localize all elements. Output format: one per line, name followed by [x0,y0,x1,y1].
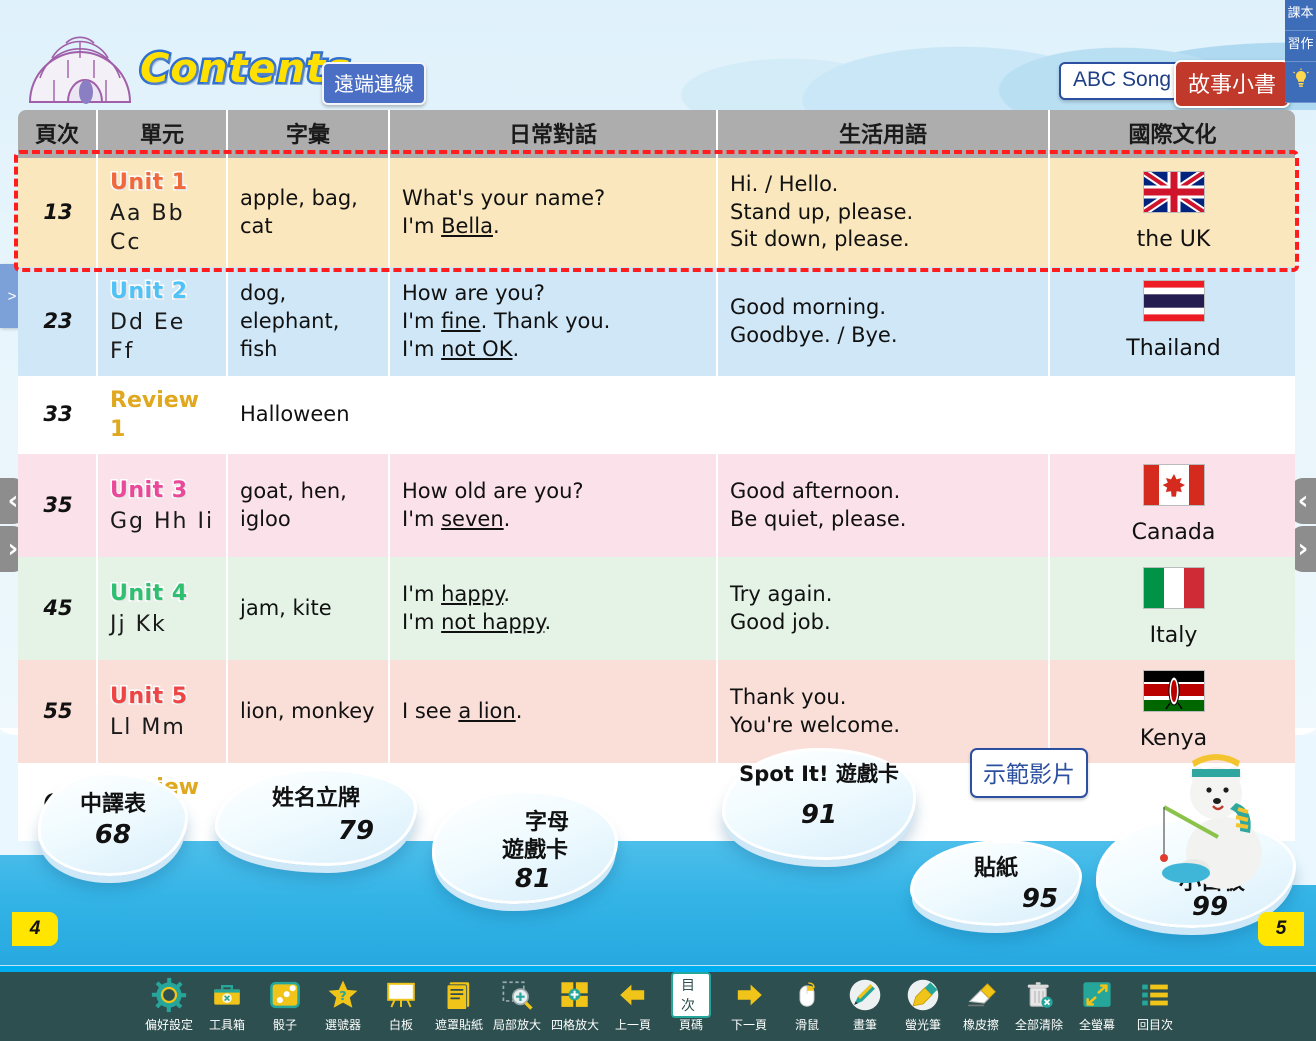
eraser-icon [961,976,1001,1014]
column-header-culture: 國際文化 [1050,110,1295,158]
whiteboard-icon [381,976,421,1014]
flag-canada-icon [1144,465,1204,505]
toolbar-highlighter[interactable]: 螢光筆 [894,972,952,1033]
row-page-number: 13 [18,158,98,267]
toolbar-eraser[interactable]: 橡皮擦 [952,972,1010,1033]
tab-textbook[interactable]: 課本 [1285,0,1316,31]
table-row[interactable]: 35Unit 3Gg Hh Iigoat, hen, iglooHow old … [18,454,1295,557]
flag-uk-icon [1144,172,1204,212]
floe-stickers[interactable]: 貼紙 95 [910,840,1082,926]
toolbar-label: 頁碼 [679,1016,703,1033]
country-flag [1143,670,1205,712]
floe-label: 姓名立牌 [215,780,417,812]
toolbar-label: 橡皮擦 [963,1016,999,1033]
toolbar-label: 選號器 [325,1016,361,1033]
highlighter-icon [903,976,943,1014]
abc-song-button[interactable]: ABC Song [1059,62,1185,100]
trash-clear-icon [1019,976,1059,1014]
row-unit: Unit 1Aa Bb Cc [98,158,228,267]
toolbar-gear[interactable]: 偏好設定 [140,972,198,1033]
mask-sticker-icon [439,976,479,1014]
flag-kenya-icon [1144,671,1204,711]
row-vocabulary: apple, bag, cat [228,158,390,267]
column-header-unit: 單元 [98,110,228,158]
row-empty-culture [1050,405,1295,425]
svg-text:?: ? [339,989,346,1004]
floe-label: Spot It! 遊戲卡 [722,758,916,788]
page-title: Contents [140,46,351,92]
toolbar-label: 偏好設定 [145,1016,193,1033]
toolbar-label: 全部清除 [1015,1016,1063,1033]
flag-italy-icon [1144,568,1204,608]
toolbar-label: 全螢幕 [1079,1016,1115,1033]
page-number-icon: 目次 [671,976,711,1014]
toolbar-label: 四格放大 [551,1016,599,1033]
zoom-region-icon [497,976,537,1014]
toolbar-arrow-right[interactable]: 下一頁 [720,972,778,1033]
row-conversation: I'm happy.I'm not happy. [390,557,718,660]
row-review-label: Review 1 [98,376,228,454]
toolbar-trash-clear[interactable]: 全部清除 [1010,972,1068,1033]
row-review-topic: Halloween [228,391,390,439]
country-flag [1143,280,1205,322]
toolbar-back-to-contents[interactable]: 回目次 [1126,972,1184,1033]
tab-workbook[interactable]: 習作 [1285,31,1316,62]
column-header-daily: 生活用語 [718,110,1050,158]
toolbar-four-grid-zoom[interactable]: 四格放大 [546,972,604,1033]
toolbar-mask-sticker[interactable]: 遮罩貼紙 [430,972,488,1033]
pen-icon [845,976,885,1014]
country-flag [1143,464,1205,506]
mouse-icon [787,976,827,1014]
toolbar-toolbox[interactable]: 工具箱 [198,972,256,1033]
toolbar-whiteboard[interactable]: 白板 [372,972,430,1033]
row-page-number: 23 [18,267,98,376]
column-header-conv: 日常對話 [390,110,718,158]
row-conversation: I see a lion. [390,660,718,763]
row-page-number: 33 [18,391,98,439]
row-unit: Unit 5Ll Mm [98,660,228,763]
toolbar-label: 畫筆 [853,1016,877,1033]
remote-connect-button[interactable]: 遠端連線 [322,62,426,105]
toolbar-page-number[interactable]: 目次頁碼 [662,972,720,1033]
toolbar-label: 螢光筆 [905,1016,941,1033]
country-label: Canada [1132,518,1216,547]
floe-label: 貼紙 [910,850,1082,882]
toolbar-label: 局部放大 [493,1016,541,1033]
country-flag [1143,567,1205,609]
dice-icon [265,976,305,1014]
toolbar-star-question[interactable]: ?選號器 [314,972,372,1033]
toolbar-dice[interactable]: 骰子 [256,972,314,1033]
floe-translation-table[interactable]: 中譯表 68 [38,772,188,876]
country-label: Thailand [1126,334,1220,363]
row-culture: the UK [1050,158,1295,267]
row-vocabulary: dog, elephant, fish [228,267,390,376]
row-empty-daily [718,405,1050,425]
table-row[interactable]: 23Unit 2Dd Ee Ffdog, elephant, fishHow a… [18,267,1295,376]
row-unit: Unit 3Gg Hh Ii [98,454,228,557]
star-question-icon: ? [323,976,363,1014]
toolbar-mouse[interactable]: 滑鼠 [778,972,836,1033]
row-unit: Unit 4Jj Kk [98,557,228,660]
toolbar-label: 上一頁 [615,1016,651,1033]
arrow-right-icon [729,976,769,1014]
row-page-number: 45 [18,557,98,660]
row-page-number: 55 [18,660,98,763]
table-row[interactable]: 55Unit 5Ll Mmlion, monkeyI see a lion.Th… [18,660,1295,763]
gear-icon [149,976,189,1014]
floe-spot-it-game-card[interactable]: Spot It! 遊戲卡 91 [722,748,916,860]
igloo-icon [24,18,136,110]
floe-page-number: 68 [38,820,188,850]
row-culture: Thailand [1050,267,1295,376]
toolbar-zoom-region[interactable]: 局部放大 [488,972,546,1033]
row-vocabulary: lion, monkey [228,660,390,763]
flag-thailand-icon [1144,281,1204,321]
row-empty-conv [390,405,718,425]
row-daily-language: Hi. / Hello.Stand up, please.Sit down, p… [718,158,1050,267]
toolbar-label: 白板 [389,1016,413,1033]
row-unit: Unit 2Dd Ee Ff [98,267,228,376]
table-row[interactable]: 13Unit 1Aa Bb Ccapple, bag, catWhat's yo… [18,158,1295,267]
tab-lightbulb[interactable] [1285,62,1316,103]
toolbar-arrow-left[interactable]: 上一頁 [604,972,662,1033]
row-conversation: How are you?I'm fine. Thank you.I'm not … [390,267,718,376]
toolbar-label: 滑鼠 [795,1016,819,1033]
country-label: the UK [1137,225,1211,254]
row-page-number: 35 [18,454,98,557]
row-vocabulary: goat, hen, igloo [228,454,390,557]
floe-page-number: 81 [440,864,626,894]
floe-label: 中譯表 [38,786,188,818]
row-culture: Canada [1050,454,1295,557]
column-header-vocab: 字彙 [228,110,390,158]
toolbar-label: 下一頁 [731,1016,767,1033]
column-header-page: 頁次 [18,110,98,158]
lightbulb-icon [1292,68,1310,90]
floe-page-number: 91 [722,800,916,830]
country-label: Italy [1150,621,1198,650]
back-to-contents-icon [1135,976,1175,1014]
toolbar-pen[interactable]: 畫筆 [836,972,894,1033]
arrow-left-icon [613,976,653,1014]
toolbar-label: 骰子 [273,1016,297,1033]
toolbar-label: 遮罩貼紙 [435,1016,483,1033]
floe-alphabet-game-card[interactable]: 字母 遊戲卡 81 [432,790,618,904]
row-daily-language: Try again.Good job. [718,557,1050,660]
page-tag-right: 5 [1258,912,1304,946]
bottom-toolbar: 偏好設定工具箱骰子?選號器白板遮罩貼紙局部放大四格放大上一頁目次頁碼下一頁滑鼠畫… [0,972,1316,1041]
fullscreen-icon [1077,976,1117,1014]
country-flag [1143,171,1205,213]
four-grid-zoom-icon [555,976,595,1014]
table-row[interactable]: 33Review 1Halloween [18,376,1295,454]
polar-bear-illustration [1150,745,1280,895]
floe-label-2: 遊戲卡 [442,832,628,864]
floe-page-number: 79 [255,816,457,846]
toolbox-icon [207,976,247,1014]
row-daily-language: Good afternoon.Be quiet, please. [718,454,1050,557]
row-conversation: How old are you?I'm seven. [390,454,718,557]
story-book-button[interactable]: 故事小書 [1174,60,1290,108]
row-vocabulary: jam, kite [228,557,390,660]
toolbar-fullscreen[interactable]: 全螢幕 [1068,972,1126,1033]
row-culture: Italy [1050,557,1295,660]
table-header-row: 頁次 單元 字彙 日常對話 生活用語 國際文化 [18,110,1295,158]
page-tag-left: 4 [12,912,58,946]
row-daily-language: Good morning.Goodbye. / Bye. [718,267,1050,376]
row-conversation: What's your name?I'm Bella. [390,158,718,267]
right-tab-rail: 課本 習作 [1285,0,1316,103]
toolbar-label: 工具箱 [209,1016,245,1033]
floe-name-plate[interactable]: 姓名立牌 79 [215,768,417,866]
demo-video-button[interactable]: 示範影片 [970,748,1088,798]
contents-table: 頁次 單元 字彙 日常對話 生活用語 國際文化 13Unit 1Aa Bb Cc… [18,110,1295,841]
table-row[interactable]: 45Unit 4Jj Kkjam, kiteI'm happy.I'm not … [18,557,1295,660]
toolbar-label: 回目次 [1137,1016,1173,1033]
